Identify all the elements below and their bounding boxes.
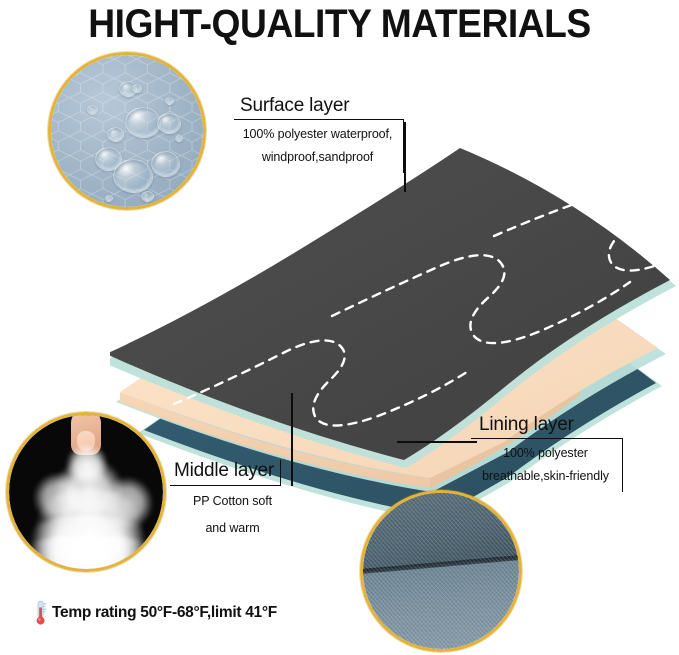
infographic-page: HIGHT-QUALITY MATERIALS [0, 0, 679, 655]
pp-cotton-fiber-photo [9, 415, 163, 569]
thermometer-icon [34, 600, 48, 626]
callout-middle-heading: Middle layer [170, 460, 281, 486]
callout-surface-body: 100% polyester waterproof, windproof,san… [234, 119, 404, 173]
lining-fabric-weave-photo [363, 493, 519, 649]
surface-layer-inset-photo [48, 52, 206, 210]
connector-lining-horizontal [397, 441, 477, 443]
callout-lining-heading: Lining layer [471, 414, 623, 436]
connector-surface-vertical [404, 122, 406, 192]
callout-lining-line2: breathable,skin-friendly [477, 465, 614, 488]
middle-layer-inset-photo [6, 412, 166, 572]
temp-rating-row: Temp rating 50°F-68°F,limit 41°F [34, 600, 277, 626]
page-title: HIGHT-QUALITY MATERIALS [24, 2, 655, 47]
callout-middle-line2: and warm [170, 517, 295, 540]
callout-surface-heading: Surface layer [234, 95, 404, 117]
callout-lining-body: 100% polyester breathable,skin-friendly [471, 438, 623, 492]
lining-layer-inset-photo [360, 490, 522, 652]
callout-lining-layer: Lining layer 100% polyester breathable,s… [471, 414, 623, 492]
callout-surface-line2: windproof,sandproof [240, 146, 395, 169]
callout-middle-line1: PP Cotton soft [170, 490, 295, 513]
water-beading-fabric-photo [51, 55, 203, 207]
callout-surface-line1: 100% polyester waterproof, [240, 123, 395, 146]
callout-surface-layer: Surface layer 100% polyester waterproof,… [234, 95, 404, 173]
temp-rating-label: Temp rating 50°F-68°F,limit 41°F [52, 604, 277, 622]
callout-middle-layer: Middle layer PP Cotton soft and warm [170, 460, 295, 540]
connector-middle-vertical [291, 393, 293, 486]
callout-lining-line1: 100% polyester [477, 442, 614, 465]
